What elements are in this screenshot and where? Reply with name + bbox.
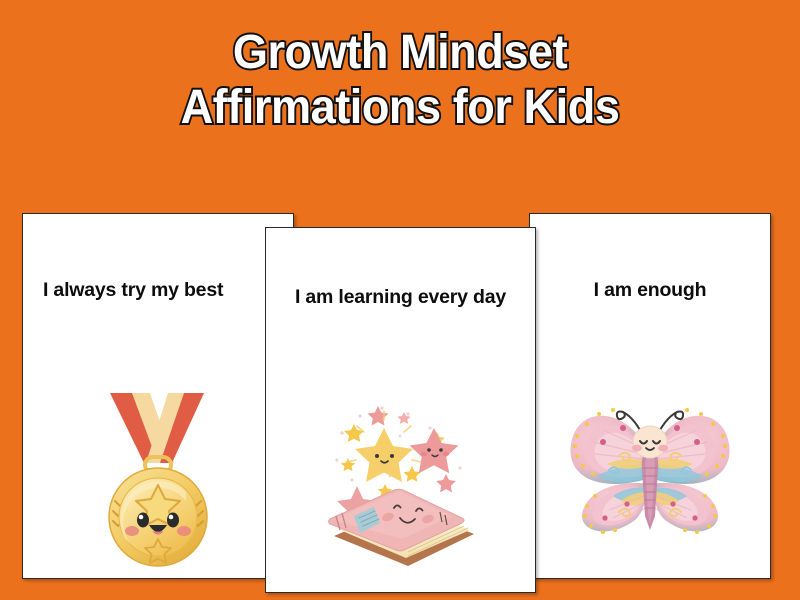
magic-book-with-stars-illustration (312, 388, 490, 573)
poster-canvas: Growth Mindset Affirmations for Kids I a… (0, 0, 800, 600)
affirmation-card-2-text: I am learning every day (266, 283, 535, 311)
affirmation-card-3-text: I am enough (530, 276, 770, 304)
pastel-butterfly-illustration (557, 384, 743, 564)
gold-medal-illustration (98, 389, 218, 574)
affirmation-card-2[interactable]: I am learning every day (265, 227, 536, 593)
affirmation-card-1[interactable]: I always try my best (22, 213, 294, 579)
page-title: Growth Mindset Affirmations for Kids (24, 26, 776, 135)
affirmation-card-1-text: I always try my best (23, 276, 293, 304)
affirmation-card-3[interactable]: I am enough (529, 213, 771, 579)
